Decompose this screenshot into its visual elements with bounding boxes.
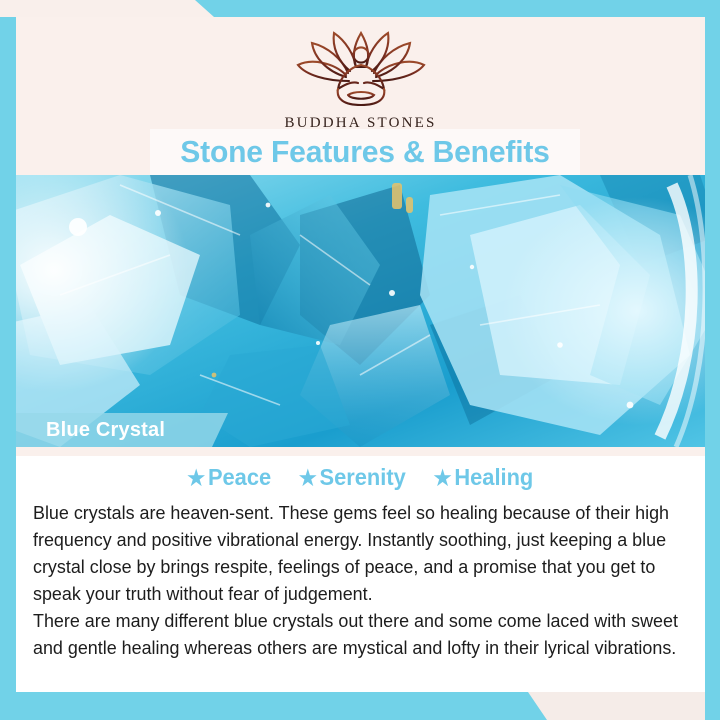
benefit-item-healing: ★Healing <box>434 464 534 491</box>
blue-crystal-photo: Blue Crystal <box>0 175 720 447</box>
benefit-item-peace: ★Peace <box>187 464 271 491</box>
benefit-label: Peace <box>208 464 271 490</box>
star-icon: ★ <box>434 467 452 490</box>
paragraph-2: There are many different blue crystals o… <box>33 608 695 662</box>
photo-caption: Blue Crystal <box>16 413 228 447</box>
title-band: Stone Features & Benefits <box>150 129 580 175</box>
paragraph-1: Blue crystals are heaven-sent. These gem… <box>33 500 695 608</box>
photo-caption-label: Blue Crystal <box>46 413 165 447</box>
content-top-strip <box>16 447 705 456</box>
page-title: Stone Features & Benefits <box>156 129 573 175</box>
lotus-meditation-icon <box>286 25 436 111</box>
benefit-item-serenity: ★Serenity <box>299 464 406 491</box>
benefits-row: ★Peace ★Serenity ★Healing <box>16 464 705 491</box>
infographic-card: BUDDHA STONES Stone Features & Benefits <box>0 0 720 720</box>
benefit-label: Serenity <box>319 464 405 490</box>
benefit-label: Healing <box>454 464 533 490</box>
header: BUDDHA STONES Stone Features & Benefits <box>16 17 705 175</box>
content-area: ★Peace ★Serenity ★Healing Blue crystals … <box>16 447 705 692</box>
star-icon: ★ <box>299 467 317 490</box>
description-block: Blue crystals are heaven-sent. These gem… <box>33 500 705 662</box>
left-cyan-accent-bar <box>0 17 16 720</box>
top-cyan-accent-bar <box>0 0 720 17</box>
crystal-illustration <box>0 175 720 447</box>
brand-logo: BUDDHA STONES <box>16 25 705 132</box>
star-icon: ★ <box>187 467 205 490</box>
right-cyan-accent-bar <box>705 0 720 720</box>
